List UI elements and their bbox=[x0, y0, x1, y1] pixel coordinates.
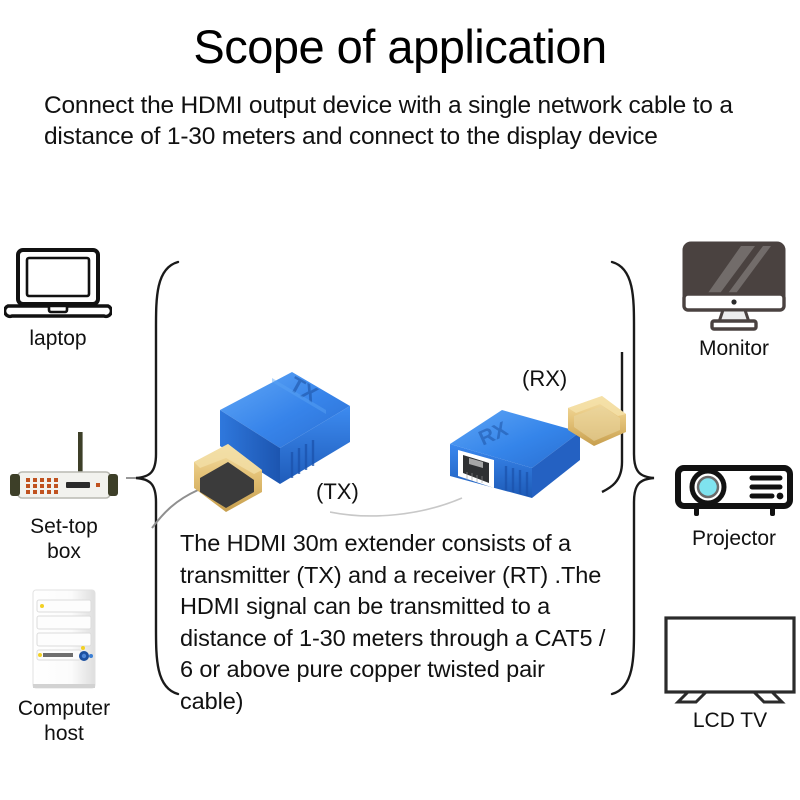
intro-paragraph: Connect the HDMI output device with a si… bbox=[44, 90, 768, 152]
display-device-monitor: Monitor bbox=[672, 240, 796, 361]
hdmi-extender-receiver: RX bbox=[440, 386, 630, 521]
set-top-box-icon bbox=[4, 432, 124, 510]
rx-unit-icon: RX bbox=[440, 386, 630, 516]
label-set-top-box: Set-top box bbox=[0, 514, 128, 564]
description-paragraph: The HDMI 30m extender consists of a tran… bbox=[180, 528, 612, 717]
infographic-page: Scope of application Connect the HDMI ou… bbox=[0, 0, 800, 800]
source-device-laptop: laptop bbox=[0, 246, 116, 351]
source-device-set-top-box: Set-top box bbox=[0, 432, 128, 564]
monitor-icon bbox=[679, 240, 789, 332]
label-rx: (RX) bbox=[522, 366, 567, 392]
page-title: Scope of application bbox=[0, 18, 800, 76]
laptop-icon bbox=[4, 246, 112, 322]
display-device-projector: Projector bbox=[668, 462, 800, 551]
display-device-lcd-tv: LCD TV bbox=[660, 614, 800, 733]
label-projector: Projector bbox=[668, 526, 800, 551]
label-computer-host: Computer host bbox=[0, 696, 128, 746]
source-device-computer-host: Computer host bbox=[0, 588, 128, 746]
label-lcd-tv: LCD TV bbox=[660, 708, 800, 733]
projector-icon bbox=[674, 462, 794, 522]
label-laptop: laptop bbox=[0, 326, 116, 351]
label-tx: (TX) bbox=[316, 479, 359, 505]
computer-tower-icon bbox=[11, 588, 117, 692]
label-monitor: Monitor bbox=[672, 336, 796, 361]
lcd-tv-icon bbox=[662, 614, 798, 704]
